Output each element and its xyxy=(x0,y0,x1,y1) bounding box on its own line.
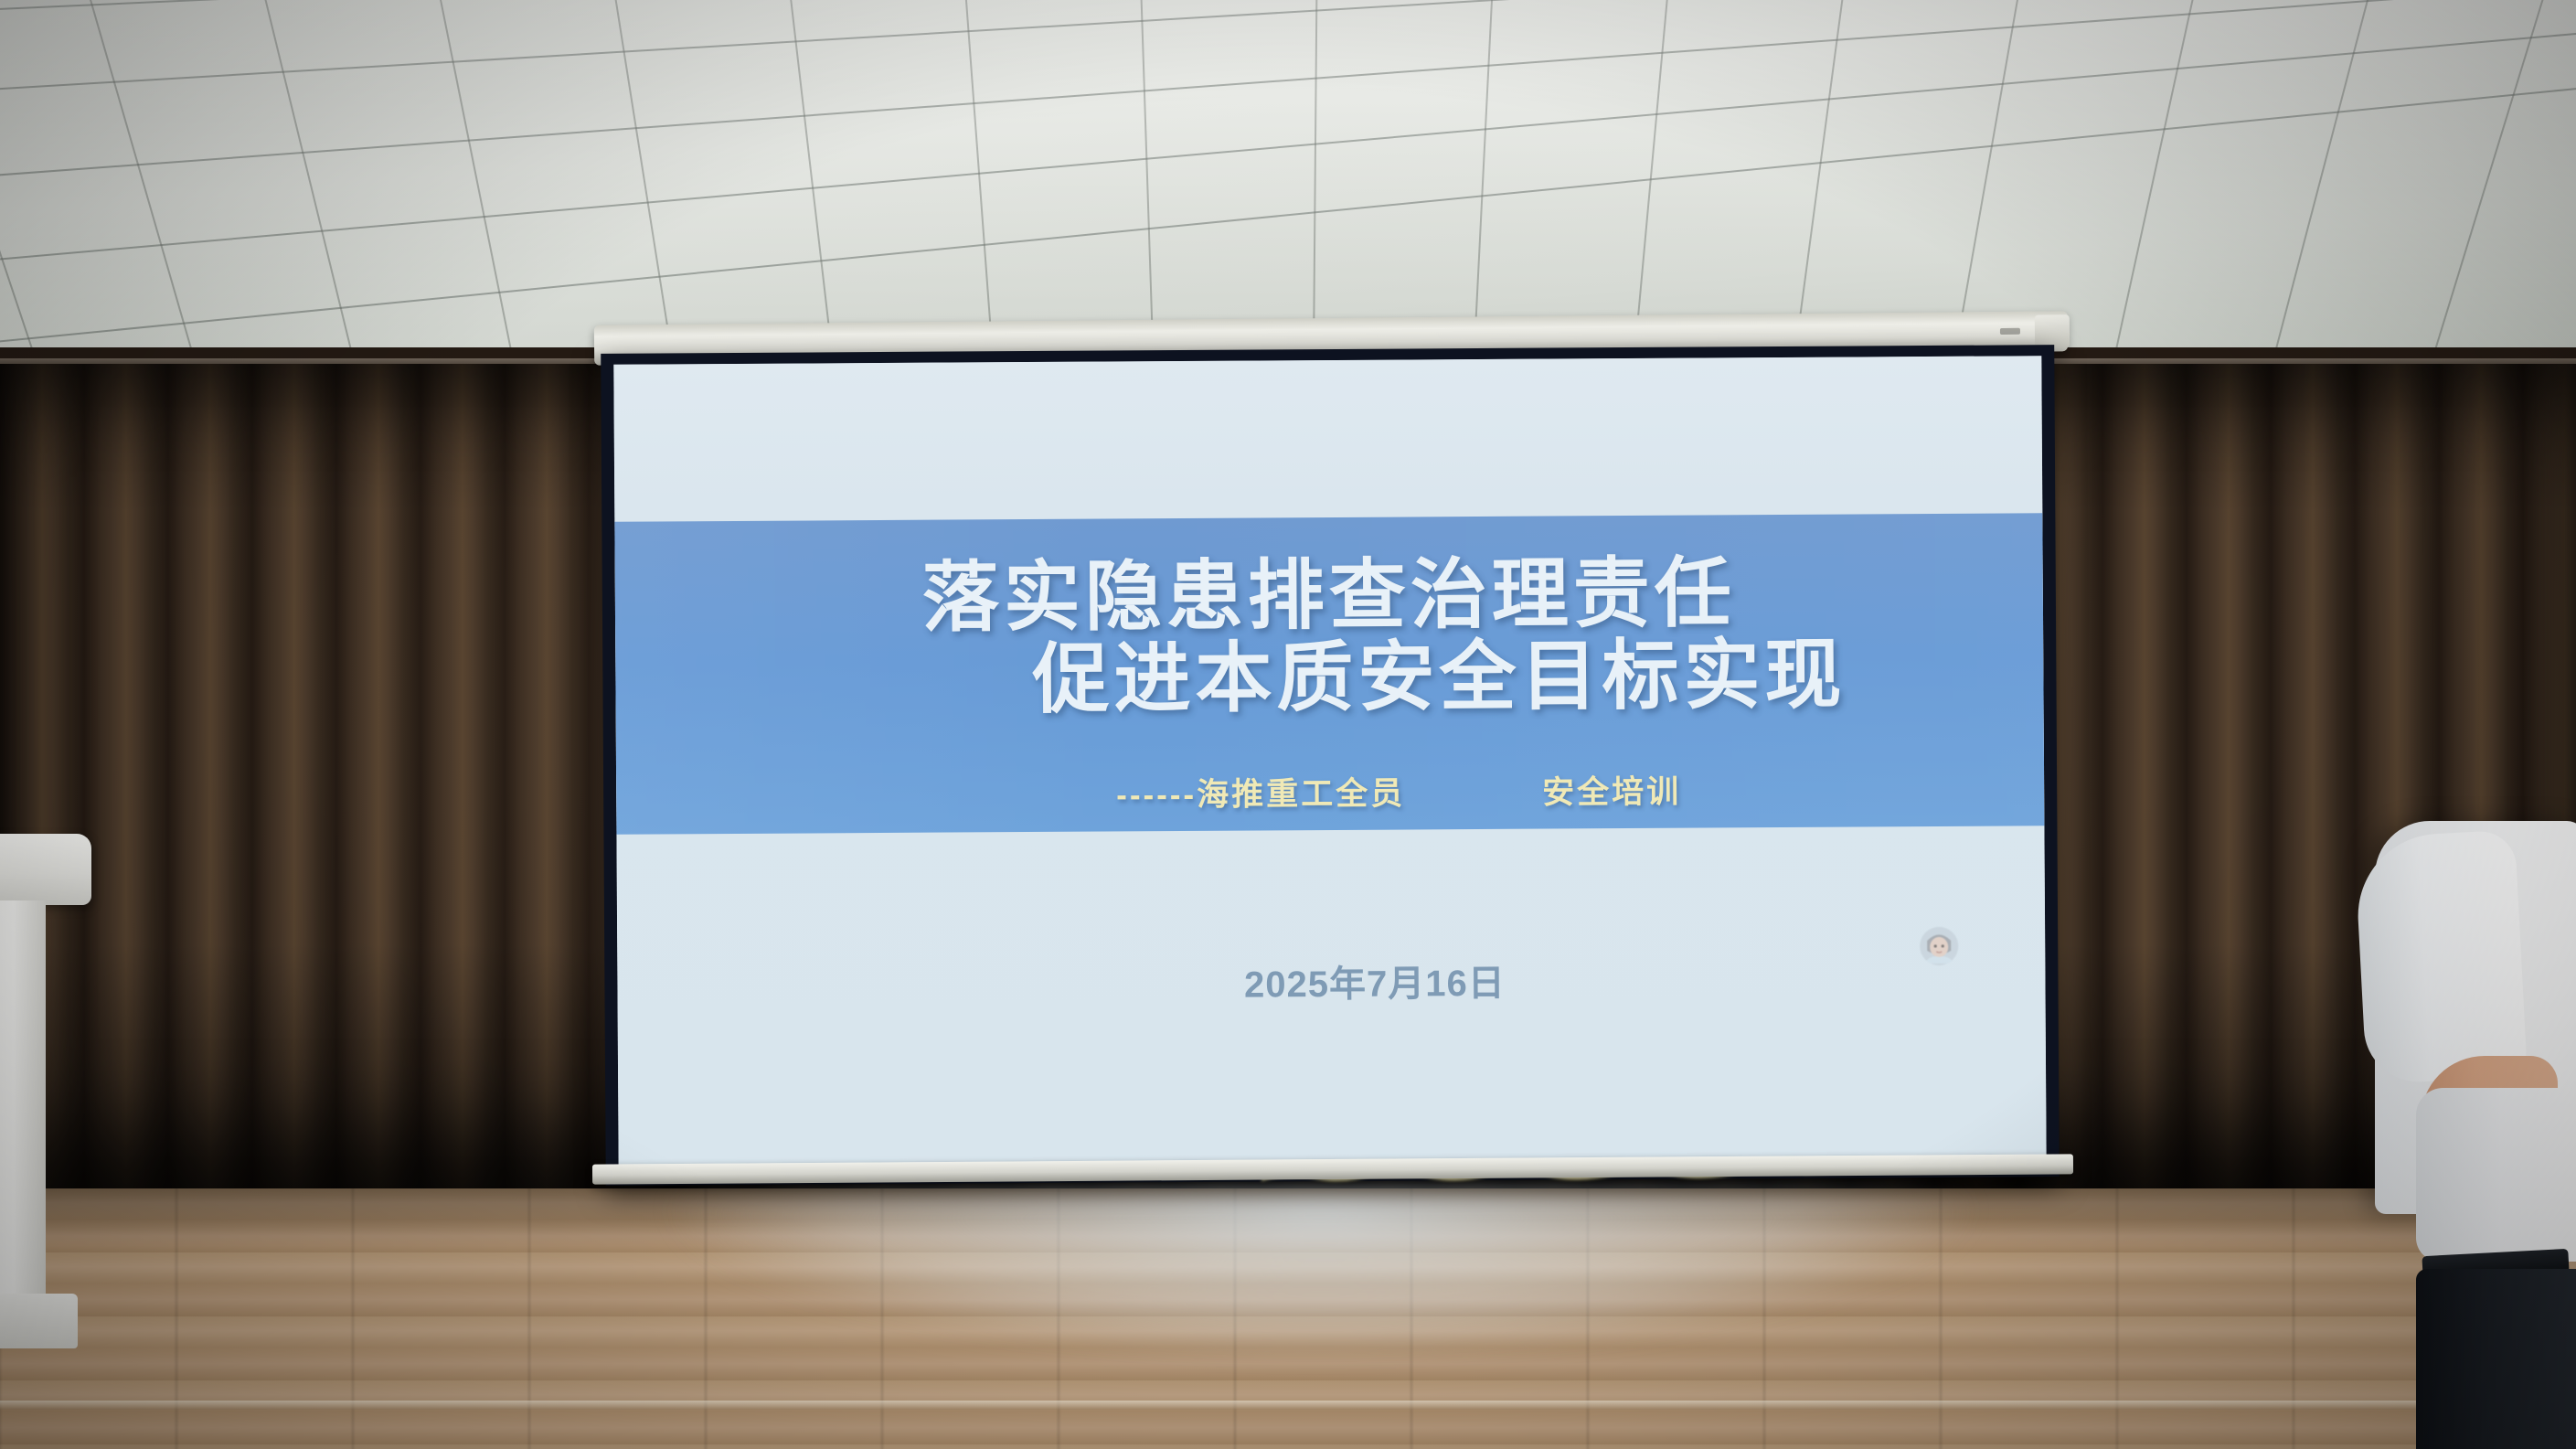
ceiling-grid-line-h xyxy=(0,64,2576,360)
ceiling-grid-line-v xyxy=(247,0,383,384)
projection-screen-frame: 落实隐患排查治理责任 促进本质安全目标实现 ------海推重工全员 安全培训 … xyxy=(601,345,2060,1186)
floor-front-edge xyxy=(0,1401,2576,1410)
slide-subtitle-left: ------海推重工全员 xyxy=(1116,768,1405,816)
ceiling-grid-line-v xyxy=(0,0,71,384)
presentation-slide: 落实隐患排查治理责任 促进本质安全目标实现 ------海推重工全员 安全培训 … xyxy=(613,356,2046,1173)
podium-top xyxy=(0,834,91,905)
projector-light-spill xyxy=(585,1188,2057,1399)
ceiling-grid-line-v xyxy=(2398,0,2566,384)
screen-housing-end-cap xyxy=(2035,314,2070,347)
avatar xyxy=(1920,927,1958,965)
slide-date: 2025年7月16日 xyxy=(617,950,2045,1012)
slide-subtitle-right: 安全培训 xyxy=(1542,766,1681,814)
ceiling-grid-line-v xyxy=(2242,0,2388,384)
avatar-face-icon xyxy=(1920,927,1958,965)
person-shirt-lower xyxy=(2416,1088,2576,1262)
ceiling-grid-line-h xyxy=(0,11,2576,276)
projection-screen-surface: 落实隐患排查治理责任 促进本质安全目标实现 ------海推重工全员 安全培训 … xyxy=(613,356,2046,1173)
ceiling-grid-line-h xyxy=(0,0,2576,189)
slide-title-line-2: 促进本质安全目标实现 xyxy=(615,612,2047,731)
screen-housing-label xyxy=(2000,328,2020,335)
podium-base xyxy=(0,1294,78,1348)
conference-room-scene: 落实隐患排查治理责任 促进本质安全目标实现 ------海推重工全员 安全培训 … xyxy=(0,0,2576,1449)
person-pants xyxy=(2416,1269,2576,1449)
podium-body xyxy=(0,900,46,1312)
person-sleeve xyxy=(2354,830,2528,1085)
ceiling-grid-line-v xyxy=(2087,0,2209,384)
slide-subtitle-row: ------海推重工全员 安全培训 xyxy=(616,764,2044,820)
